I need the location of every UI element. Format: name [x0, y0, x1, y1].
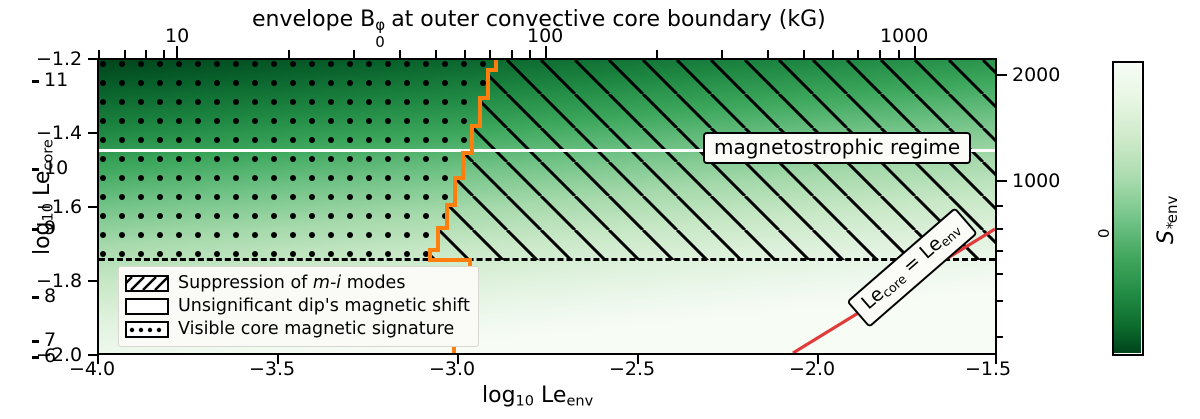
legend-item-unsignificant[interactable]: Unsignificant dip's magnetic shift — [125, 295, 470, 318]
xtick-label-4: −2.0 — [789, 360, 835, 379]
colorbar-label-11: 11 — [44, 71, 68, 90]
right-tick-label-1000: 1000 — [1012, 172, 1060, 191]
right-tick-major-1000 — [995, 180, 1007, 182]
plain-swatch-icon — [125, 298, 169, 315]
colorbar-gradient — [1114, 63, 1141, 353]
legend-item-visible-core[interactable]: Visible core magnetic signature — [125, 318, 470, 341]
figure-root: envelope Bφ0 at outer convective core bo… — [0, 0, 1200, 419]
dot-hatch-swatch-icon — [125, 321, 169, 338]
colorbar-tick-7 — [32, 340, 39, 343]
xtick-major-4 — [817, 355, 819, 364]
colorbar[interactable] — [1112, 61, 1144, 356]
colorbar-tick-9 — [32, 228, 39, 231]
right-tick-minor — [995, 205, 1003, 207]
right-tick-minor — [995, 250, 1003, 252]
top-tick-minor — [353, 50, 355, 58]
colorbar-label-6: 6 — [44, 347, 56, 366]
ytick-major-4 — [88, 354, 97, 356]
top-tick-minor — [124, 50, 126, 58]
top-tick-minor — [879, 50, 881, 58]
xtick-major-3 — [637, 355, 639, 364]
top-tick-minor — [721, 50, 723, 58]
top-tick-minor — [464, 50, 466, 58]
ytick-label-2: −1.6 — [36, 198, 82, 217]
ytick-label-3: −1.8 — [36, 272, 82, 291]
legend-label-visible-core: Visible core magnetic signature — [178, 321, 454, 339]
colorbar-label-9: 9 — [44, 219, 56, 238]
xtick-label-1: −3.5 — [249, 360, 295, 379]
top-tick-minor — [803, 50, 805, 58]
xtick-major-1 — [277, 355, 279, 364]
top-tick-minor — [288, 50, 290, 58]
top-tick-minor — [857, 50, 859, 58]
top-tick-minor — [767, 50, 769, 58]
ytick-major-1 — [88, 132, 97, 134]
ytick-label-1: −1.4 — [36, 124, 82, 143]
xtick-label-0: −4.0 — [69, 360, 115, 379]
top-tick-minor — [898, 50, 900, 58]
top-tick-minor — [529, 50, 531, 58]
legend-item-suppression[interactable]: Suppression of m-i modes — [125, 272, 470, 295]
zero-subscript: 0 — [375, 35, 385, 50]
colorbar-tick-10 — [32, 168, 39, 171]
xtick-label-2: −3.0 — [429, 360, 475, 379]
ytick-major-2 — [88, 206, 97, 208]
right-tick-minor — [995, 300, 1003, 302]
top-tick-minor — [399, 50, 401, 58]
legend-label-unsignificant: Unsignificant dip's magnetic shift — [178, 298, 470, 316]
xtick-major-2 — [457, 355, 459, 364]
top-tick-minor — [511, 50, 513, 58]
colorbar-tick-6 — [32, 356, 39, 359]
top-tick-label-10: 10 — [165, 27, 189, 46]
top-tick-minor — [435, 50, 437, 58]
right-tick-major-2000 — [995, 74, 1007, 76]
bottom-axis-label: log10 Leenv — [482, 385, 593, 409]
right-tick-minor — [995, 228, 1003, 230]
top-tick-major-10 — [176, 46, 178, 58]
ytick-major-3 — [88, 280, 97, 282]
annotation-magnetostrophic-regime[interactable]: magnetostrophic regime — [703, 132, 971, 164]
colorbar-axis-label: S*env — [1156, 175, 1180, 265]
phi-superscript: φ — [375, 18, 385, 33]
colorbar-label-10: 10 — [44, 159, 68, 178]
right-tick-minor — [995, 273, 1003, 275]
ytick-major-0 — [88, 58, 97, 60]
legend-label-suppression: Suppression of m-i modes — [178, 275, 405, 293]
xtick-label-5: −1.5 — [965, 360, 1011, 379]
ytick-label-0: −1.2 — [36, 50, 82, 69]
diagonal-hatch-swatch-icon — [125, 275, 169, 292]
dip-threshold-line — [99, 258, 995, 261]
colorbar-tick-8 — [32, 296, 39, 299]
zero-subscript-right: 0 — [1095, 229, 1110, 239]
top-tick-minor — [656, 50, 658, 58]
xtick-major-5 — [995, 355, 997, 364]
top-tick-minor — [145, 50, 147, 58]
top-tick-minor — [98, 50, 100, 58]
right-tick-label-2000: 2000 — [1012, 66, 1060, 85]
xtick-label-3: −2.5 — [609, 360, 655, 379]
colorbar-tick-11 — [32, 80, 39, 83]
colorbar-label-8: 8 — [44, 287, 56, 306]
right-tick-minor — [995, 336, 1003, 338]
top-tick-minor — [163, 50, 165, 58]
xtick-major-0 — [97, 355, 99, 364]
top-tick-major-100 — [545, 46, 547, 58]
star-superscript: * — [1165, 222, 1180, 230]
top-tick-label-100: 100 — [527, 27, 563, 46]
plot-area: magnetostrophic regime Lecore = Leenv Su… — [97, 58, 997, 355]
top-tick-major-1000 — [914, 46, 916, 58]
top-tick-minor — [832, 50, 834, 58]
top-tick-label-1000: 1000 — [880, 27, 928, 46]
legend[interactable]: Suppression of m-i modes Unsignificant d… — [118, 266, 479, 347]
top-tick-minor — [489, 50, 491, 58]
